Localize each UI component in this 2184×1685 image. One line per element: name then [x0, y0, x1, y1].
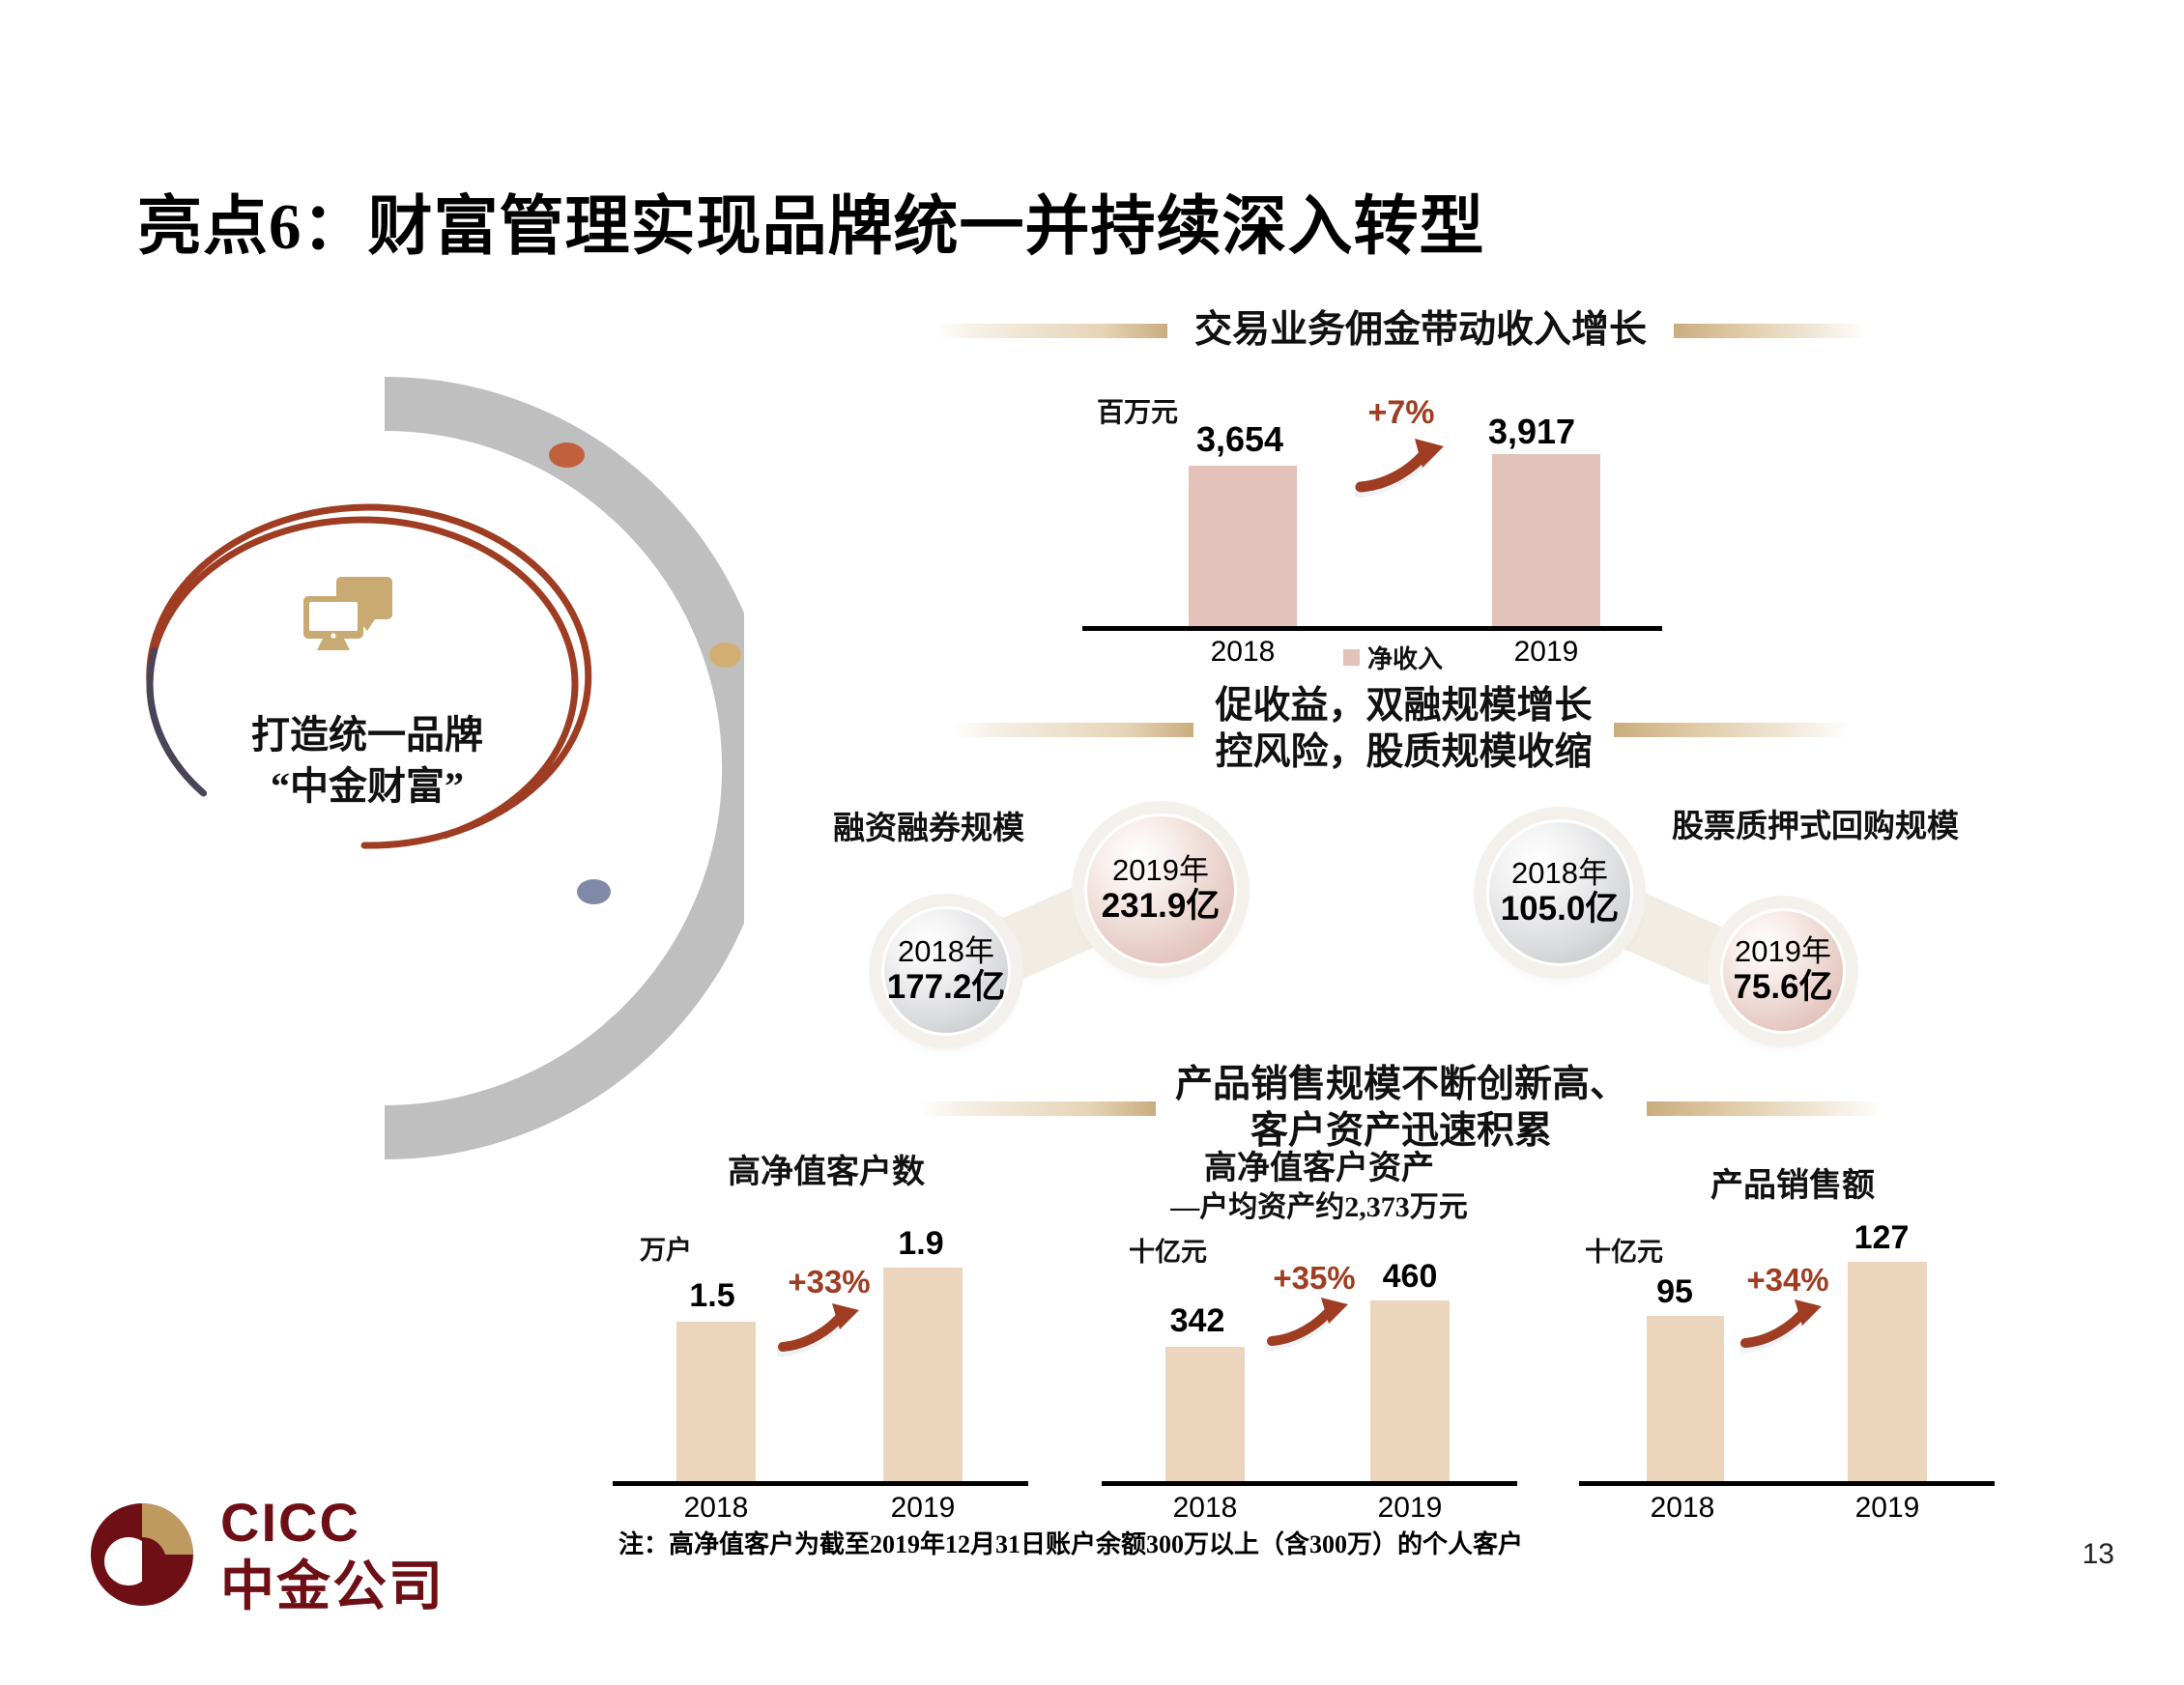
header-rule-right-3 — [1647, 1101, 1883, 1116]
bubble-value: 75.6亿 — [1733, 968, 1832, 1006]
header-rule-left — [935, 324, 1167, 338]
chart-net-revenue-value-2019: 3,917 — [1450, 412, 1614, 452]
chart-hnw-assets-unit: 十亿元 — [1129, 1231, 1207, 1269]
growth-arrow-icon — [1739, 1299, 1836, 1358]
cicc-logo-en: CICC — [220, 1496, 445, 1550]
brand-line-1: 打造统一品牌 — [184, 710, 551, 761]
chart-hnw-assets-value-2018: 342 — [1125, 1302, 1270, 1340]
section-header-margin-text: 促收益，双融规模增长 控风险，股质规模收缩 — [1215, 683, 1592, 775]
chart-product-sales: 产品销售额 十亿元 95 +34% 127 2018 2019 — [1566, 1140, 2020, 1527]
chart-hnw-clients-title: 高净值客户数 — [599, 1154, 1053, 1193]
chart-product-sales-cat-2018: 2018 — [1610, 1492, 1755, 1525]
growth-arrow-icon — [1355, 437, 1461, 504]
chart-hnw-assets-bar-2019 — [1370, 1300, 1450, 1481]
bubble-year: 2018年 — [1511, 858, 1608, 890]
section-header-revenue-text: 交易业务佣金带动收入增长 — [1194, 307, 1647, 354]
chart-hnw-assets: 高净值客户资产 —户均资产约2,373万元 十亿元 342 +35% 460 2… — [1092, 1140, 1546, 1527]
chart-hnw-assets-subtitle: —户均资产约2,373万元 — [1092, 1190, 1546, 1225]
chart-product-sales-cat-2019: 2019 — [1815, 1492, 1960, 1525]
bubble-2019-margin-financing: 2019年 231.9亿 — [1084, 814, 1237, 966]
chart-net-revenue: 百万元 3,654 +7% 3,917 2018 2019 净收入 — [1082, 386, 1701, 667]
chart-product-sales-axis — [1579, 1481, 1995, 1486]
chart-hnw-clients-bar-2018 — [676, 1322, 756, 1481]
growth-arrow-icon — [777, 1302, 874, 1362]
bubble-2018-stock-pledge: 2018年 105.0亿 — [1486, 819, 1633, 966]
bubble-value: 105.0亿 — [1501, 890, 1620, 928]
section-header-margin: 促收益，双融规模增长 控风险，股质规模收缩 — [928, 676, 1875, 783]
chart-hnw-assets-title: 高净值客户资产 — [1092, 1150, 1546, 1189]
chart-product-sales-bar-2019 — [1848, 1262, 1927, 1481]
chart-product-sales-value-2019: 127 — [1809, 1219, 1954, 1257]
chart-hnw-clients-value-2019: 1.9 — [848, 1225, 993, 1263]
section-header-line: 促收益，双融规模增长 — [1215, 683, 1592, 729]
chart-product-sales-unit: 十亿元 — [1585, 1231, 1663, 1269]
chart-hnw-assets-value-2019: 460 — [1337, 1258, 1482, 1296]
bubble-2019-stock-pledge: 2019年 75.6亿 — [1720, 908, 1846, 1034]
section-header-line: 交易业务佣金带动收入增长 — [1194, 307, 1647, 354]
chart-hnw-clients-axis — [613, 1481, 1028, 1486]
bubble-chart-margin-financing-title: 融资融券规模 — [833, 802, 1024, 848]
chart-net-revenue-legend: 净收入 — [1343, 640, 1443, 675]
bubble-2018-margin-financing: 2018年 177.2亿 — [881, 906, 1011, 1036]
bubble-value: 231.9亿 — [1102, 887, 1221, 925]
chart-product-sales-title: 产品销售额 — [1566, 1167, 2020, 1207]
bubble-chart-stock-pledge: 股票质押式回购规模 2018年 105.0亿 2019年 75.6亿 — [1401, 783, 1962, 1043]
chart-product-sales-bar-2018 — [1647, 1316, 1724, 1481]
bubble-chart-margin-financing: 融资融券规模 2018年 177.2亿 2019年 231.9亿 — [802, 783, 1363, 1043]
chart-hnw-assets-cat-2019: 2019 — [1337, 1492, 1482, 1525]
chart-product-sales-growth: +34% — [1720, 1262, 1855, 1299]
brand-circle-graphic: 打造统一品牌 “中金财富” — [126, 377, 744, 1159]
page-number: 13 — [2083, 1538, 2114, 1571]
legend-swatch-net-revenue — [1343, 649, 1360, 666]
header-rule-left-2 — [952, 723, 1193, 737]
chart-net-revenue-cat-2018: 2018 — [1165, 636, 1320, 669]
bubble-value: 177.2亿 — [887, 968, 1006, 1006]
section-header-line: 控风险，股质规模收缩 — [1215, 729, 1592, 776]
bubble-year: 2019年 — [1112, 855, 1209, 887]
header-rule-right — [1674, 324, 1867, 338]
growth-arrow-icon — [1266, 1297, 1363, 1357]
bubble-year: 2019年 — [1735, 936, 1831, 968]
chart-hnw-assets-bar-2018 — [1165, 1347, 1245, 1481]
brand-line-2: “中金财富” — [184, 761, 551, 813]
bubble-chart-stock-pledge-title: 股票质押式回购规模 — [1672, 800, 1959, 846]
chart-hnw-clients-cat-2018: 2018 — [644, 1492, 789, 1525]
brand-text: 打造统一品牌 “中金财富” — [184, 710, 551, 813]
chart-net-revenue-cat-2019: 2019 — [1469, 636, 1624, 669]
page-title: 亮点6：财富管理实现品牌统一并持续深入转型 — [137, 174, 1780, 268]
legend-label-net-revenue: 净收入 — [1367, 640, 1443, 675]
chart-net-revenue-value-2018: 3,654 — [1158, 419, 1322, 460]
chart-hnw-clients-unit: 万户 — [640, 1229, 692, 1267]
header-rule-left-3 — [919, 1101, 1156, 1116]
footnote: 注：高净值客户为截至2019年12月31日账户余额300万以上（含300万）的个… — [618, 1525, 1523, 1560]
cicc-logo-cn: 中金公司 — [220, 1559, 445, 1614]
section-header-line: 产品销售规模不断创新高、 — [1175, 1062, 1627, 1108]
chart-net-revenue-axis — [1082, 626, 1662, 631]
cicc-logo: CICC 中金公司 — [85, 1496, 445, 1614]
chart-net-revenue-bar-2019 — [1492, 454, 1600, 626]
chart-hnw-clients-growth: +33% — [762, 1264, 897, 1300]
section-header-revenue: 交易业务佣金带动收入增长 — [928, 307, 1875, 354]
chart-hnw-assets-axis — [1102, 1481, 1517, 1486]
chart-hnw-assets-cat-2018: 2018 — [1133, 1492, 1278, 1525]
header-rule-right-2 — [1614, 723, 1851, 737]
cicc-logo-mark — [85, 1498, 199, 1612]
chart-hnw-clients-bar-2019 — [883, 1268, 963, 1481]
bubble-year: 2018年 — [898, 936, 994, 968]
monitor-screens-icon — [298, 575, 414, 662]
chart-hnw-clients: 高净值客户数 万户 1.5 +33% 1.9 2018 2019 — [599, 1140, 1053, 1527]
chart-hnw-clients-cat-2019: 2019 — [850, 1492, 995, 1525]
chart-net-revenue-bar-2018 — [1189, 466, 1297, 626]
